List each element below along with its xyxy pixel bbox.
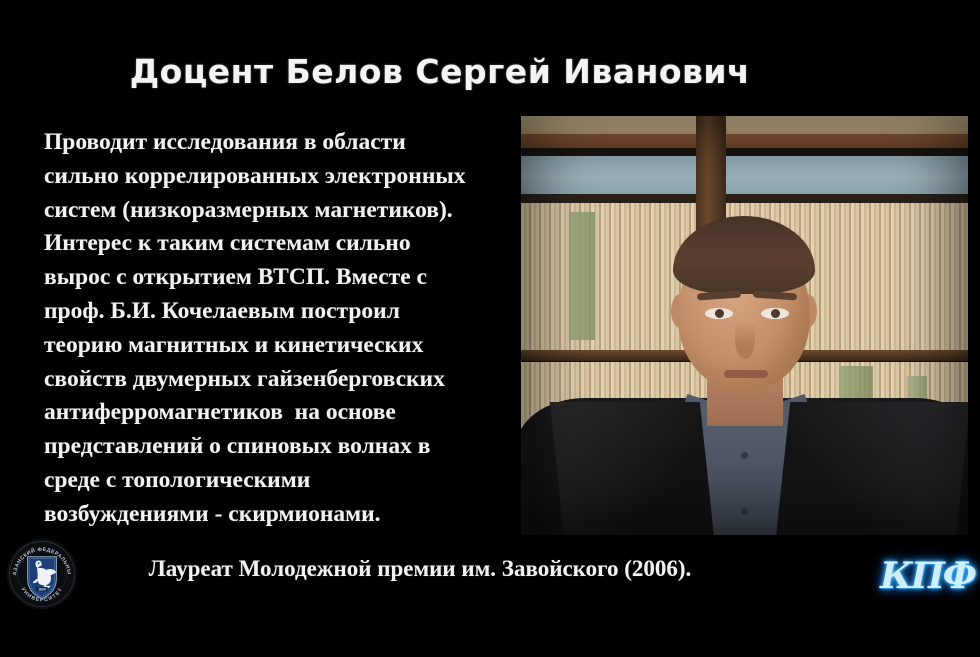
body-line: свойств двумерных гайзенберговских <box>44 363 504 397</box>
body-line: проф. Б.И. Кочелаевым построил <box>44 295 504 329</box>
kpf-logo: КПФ <box>880 552 972 600</box>
shelf-edge <box>521 194 968 203</box>
award-caption: Лауреат Молодежной премии им. Завойского… <box>100 556 740 582</box>
body-line: теорию магнитных и кинетических <box>44 329 504 363</box>
book-spine <box>569 212 595 340</box>
kazan-federal-university-logo-icon: КАЗАНСКИЙ ФЕДЕРАЛЬНЫЙ УНИВЕРСИТЕТ 1804 <box>6 538 78 610</box>
body-line: Интерес к таким системам сильно <box>44 227 504 261</box>
portrait-photo <box>521 116 968 535</box>
jacket-lapel <box>550 402 714 535</box>
body-line: среде с топологическими <box>44 464 504 498</box>
body-line: Проводит исследования в области <box>44 126 504 160</box>
body-line: представлений о спиновых волнах в <box>44 430 504 464</box>
nose <box>735 321 755 359</box>
logo-year-text: 1804 <box>38 587 46 591</box>
body-line: сильно коррелированных электронных <box>44 160 504 194</box>
presentation-slide: Доцент Белов Сергей Иванович Проводит ис… <box>0 0 980 657</box>
mouth <box>724 370 768 378</box>
zilant-eye <box>38 562 40 564</box>
pupil <box>771 309 780 318</box>
shirt-button <box>741 508 748 515</box>
body-line: антиферромагнетиков на основе <box>44 396 504 430</box>
wall-band <box>521 152 968 198</box>
pupil <box>715 309 724 318</box>
jacket-lapel <box>776 402 968 535</box>
biography-text: Проводит исследования в области сильно к… <box>44 126 504 532</box>
body-line: вырос с открытием ВТСП. Вместе с <box>44 261 504 295</box>
page-title: Доцент Белов Сергей Иванович <box>0 52 880 91</box>
shirt-button <box>741 452 748 459</box>
body-line: систем (низкоразмерных магнетиков). <box>44 194 504 228</box>
body-line: возбуждениями - скирмионами. <box>44 498 504 532</box>
shelf-shadow <box>521 148 968 156</box>
